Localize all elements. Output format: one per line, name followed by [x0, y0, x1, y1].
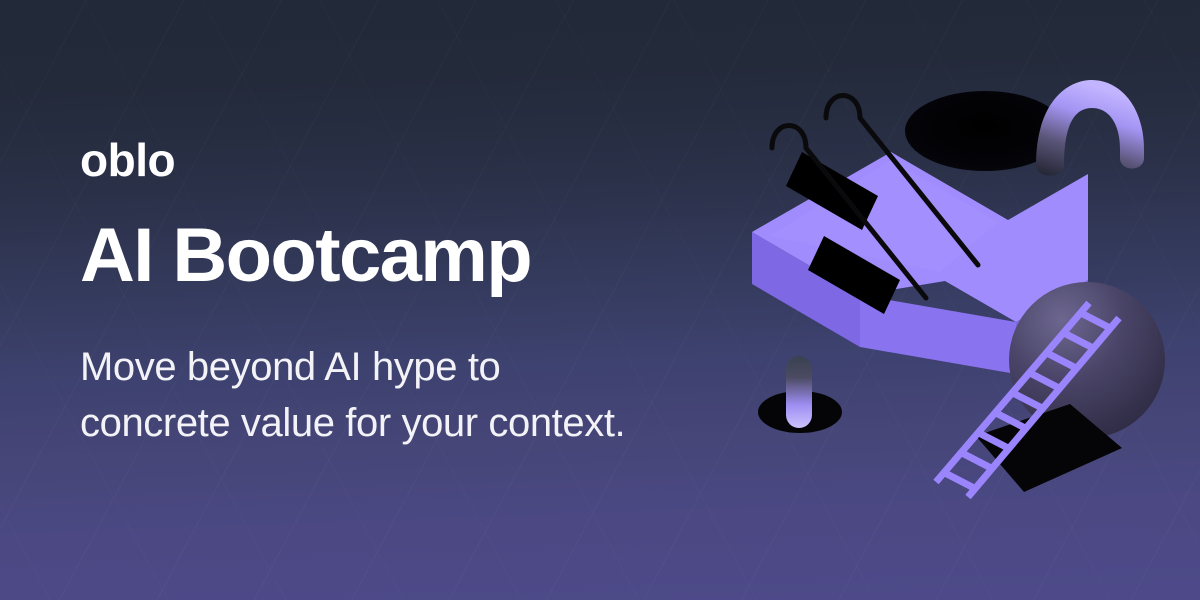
event-banner: oblo AI Bootcamp Move beyond AI hype to …	[0, 0, 1200, 600]
arch-tube-icon	[1036, 80, 1144, 176]
hero-illustration	[740, 0, 1200, 600]
subtitle-line-1: Move beyond AI hype to	[80, 339, 625, 395]
pill-cylinder-icon	[786, 356, 812, 428]
brand-logo: oblo	[80, 137, 175, 183]
subtitle-line-2: concrete value for your context.	[80, 395, 625, 451]
text-content-column: oblo AI Bootcamp Move beyond AI hype to …	[80, 0, 780, 600]
subtitle: Move beyond AI hype to concrete value fo…	[80, 339, 625, 451]
page-title: AI Bootcamp	[80, 216, 531, 296]
